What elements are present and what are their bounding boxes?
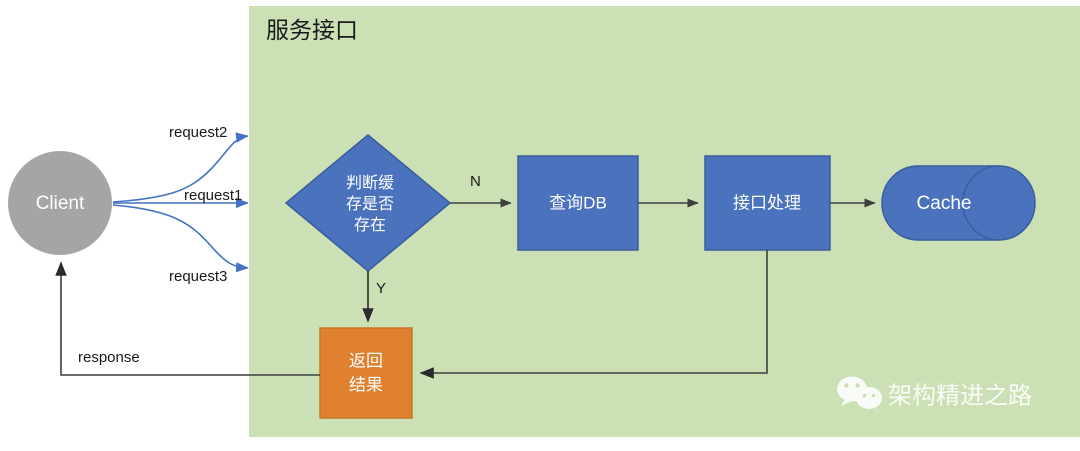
decision-label-line3: 存在	[354, 216, 386, 234]
process-interface-handling-label: 接口处理	[733, 193, 801, 212]
edge-decision-no-label: N	[470, 173, 481, 190]
decision-label-line1: 判断缓	[346, 174, 394, 192]
flow-diagram: 服务接口 Client request2 request1 request3 判…	[0, 0, 1080, 451]
panel-title: 服务接口	[266, 17, 358, 43]
client-node-label: Client	[36, 193, 85, 214]
process-return-result-line1: 返回	[349, 351, 383, 370]
edge-decision-yes-label: Y	[376, 280, 386, 297]
process-return-result	[320, 328, 412, 418]
diagram-canvas: 服务接口 Client request2 request1 request3 判…	[0, 0, 1080, 451]
edge-request1-label: request1	[184, 187, 242, 204]
datastore-cache-label: Cache	[917, 193, 972, 214]
decision-label-line2: 存是否	[346, 195, 394, 213]
edge-request2-label: request2	[169, 124, 227, 141]
edge-response-label: response	[78, 349, 140, 366]
process-query-db-label: 查询DB	[549, 193, 607, 212]
edge-request3-label: request3	[169, 268, 227, 285]
process-return-result-line2: 结果	[349, 375, 383, 394]
watermark-label: 架构精进之路	[888, 382, 1032, 409]
edge-request3-path	[113, 205, 248, 268]
